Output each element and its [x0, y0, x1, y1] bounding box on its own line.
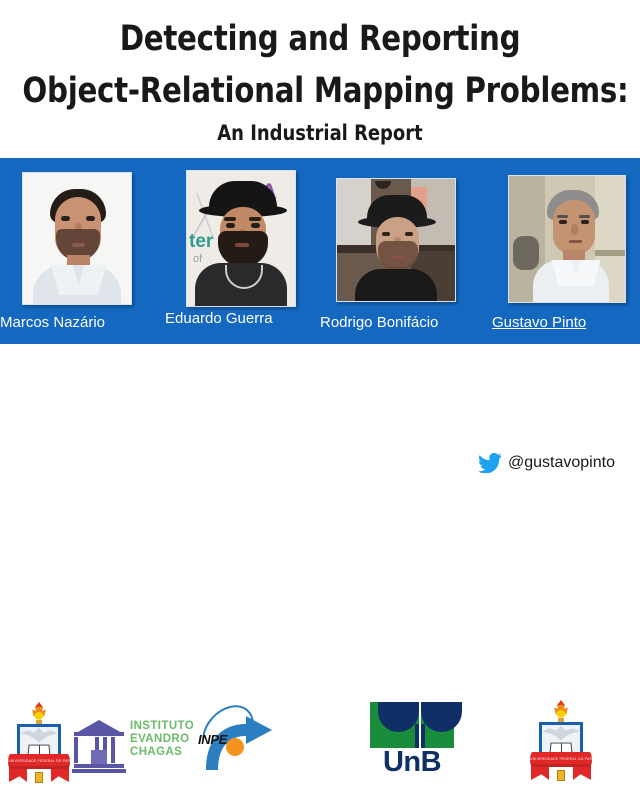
ufpa-ribbon-text: UNIVERSIDADE FEDERAL DO PARÁ [530, 752, 592, 767]
author-photo-rodrigo-bonifacio [336, 178, 456, 302]
author-name-4[interactable]: Gustavo Pinto [492, 314, 640, 332]
inpe-logo: INPE [192, 706, 286, 780]
unb-logo: UnB [362, 702, 462, 782]
logo-row: UNIVERSIDADE FEDERAL DO PARÁ INSTITUTO E… [0, 344, 640, 449]
author-photo-gustavo-pinto [508, 175, 626, 303]
title-subtitle: An Industrial Report [16, 120, 624, 146]
twitter-handle[interactable]: @gustavopinto [478, 452, 615, 474]
inpe-dot-icon [226, 738, 244, 756]
title-line-2: Object-Relational Mapping Problems: [22, 71, 617, 111]
iec-wordmark: INSTITUTO EVANDRO CHAGAS [130, 720, 194, 759]
title-line-1: Detecting and Reporting [22, 19, 617, 59]
inpe-wordmark: INPE [198, 732, 227, 747]
instituto-evandro-chagas-logo: INSTITUTO EVANDRO CHAGAS [74, 714, 184, 776]
twitter-handle-text: @gustavopinto [508, 453, 615, 473]
author-name-3: Rodrigo Bonifácio [320, 314, 495, 332]
ufpa-crest-logo: UNIVERSIDADE FEDERAL DO PARÁ [8, 702, 70, 786]
title-block: Detecting and Reporting Object-Relationa… [0, 0, 640, 158]
torch-flame-icon [552, 700, 570, 720]
author-name-1: Marcos Nazário [0, 314, 165, 332]
ufpa-ribbon-text: UNIVERSIDADE FEDERAL DO PARÁ [8, 754, 70, 769]
unb-building-icon [370, 702, 454, 748]
classical-building-icon [74, 720, 124, 768]
author-photo-marcos-nazario [22, 172, 132, 305]
author-name-2: Eduardo Guerra [165, 310, 330, 328]
twitter-bird-icon [478, 453, 502, 473]
ufpa-crest-logo: UNIVERSIDADE FEDERAL DO PARÁ [530, 700, 592, 784]
author-photo-eduardo-guerra: MA terof [186, 170, 296, 307]
unb-wordmark: UnB [362, 746, 462, 778]
torch-flame-icon [30, 702, 48, 722]
